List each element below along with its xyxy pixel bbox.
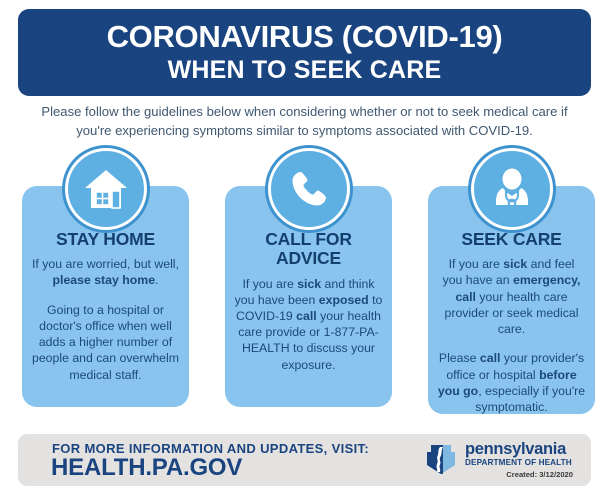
card-stay-home: STAY HOME If you are worried, but well, … <box>22 186 189 407</box>
card-call-for-advice: CALL FOR ADVICE If you are sick and thin… <box>225 186 392 407</box>
card-paragraph: Going to a hospital or doctor's office w… <box>31 302 180 383</box>
page-subtitle: WHEN TO SEEK CARE <box>168 56 442 85</box>
text-span: Please <box>439 351 480 365</box>
created-date: Created: 3/12/2020 <box>506 471 573 479</box>
card-heading-call-for-advice: CALL FOR ADVICE <box>234 230 383 269</box>
header-banner: CORONAVIRUS (COVID-19) WHEN TO SEEK CARE <box>18 9 591 96</box>
phone-icon <box>268 148 350 230</box>
card-paragraph: Please call your provider's office or ho… <box>437 350 586 415</box>
footer-url[interactable]: HEALTH.PA.GOV <box>51 454 242 482</box>
text-span: If you are <box>243 277 298 291</box>
text-bold: exposed <box>319 293 369 307</box>
text-span: . <box>155 273 158 287</box>
house-icon <box>65 148 147 230</box>
pennsylvania-doh-logo: pennsylvania DEPARTMENT OF HEALTH Create… <box>423 440 575 482</box>
text-bold: call <box>480 351 501 365</box>
card-paragraph: If you are sick and think you have been … <box>234 276 383 373</box>
footer-bar: FOR MORE INFORMATION AND UPDATES, VISIT:… <box>18 434 591 486</box>
card-heading-seek-care: SEEK CARE <box>437 230 586 249</box>
logo-wordmark: pennsylvania <box>465 441 566 458</box>
intro-paragraph: Please follow the guidelines below when … <box>28 103 581 141</box>
text-bold: sick <box>297 277 321 291</box>
page-title: CORONAVIRUS (COVID-19) <box>107 20 503 53</box>
card-heading-stay-home: STAY HOME <box>31 230 180 249</box>
card-paragraph: If you are sick and feel you have an eme… <box>437 256 586 337</box>
logo-subwordmark: DEPARTMENT OF HEALTH <box>465 459 572 467</box>
card-seek-care: SEEK CARE If you are sick and feel you h… <box>428 186 595 414</box>
keystone-icon <box>423 441 459 477</box>
doctor-icon <box>471 148 553 230</box>
text-bold: call <box>296 309 317 323</box>
text-bold: please stay home <box>53 273 156 287</box>
text-span: If you are <box>449 257 504 271</box>
text-span: If you are worried, but well, <box>32 257 179 271</box>
text-span: , especially if you're symptomatic. <box>475 384 585 414</box>
text-bold: sick <box>503 257 527 271</box>
card-paragraph: If you are worried, but well, please sta… <box>31 256 180 288</box>
